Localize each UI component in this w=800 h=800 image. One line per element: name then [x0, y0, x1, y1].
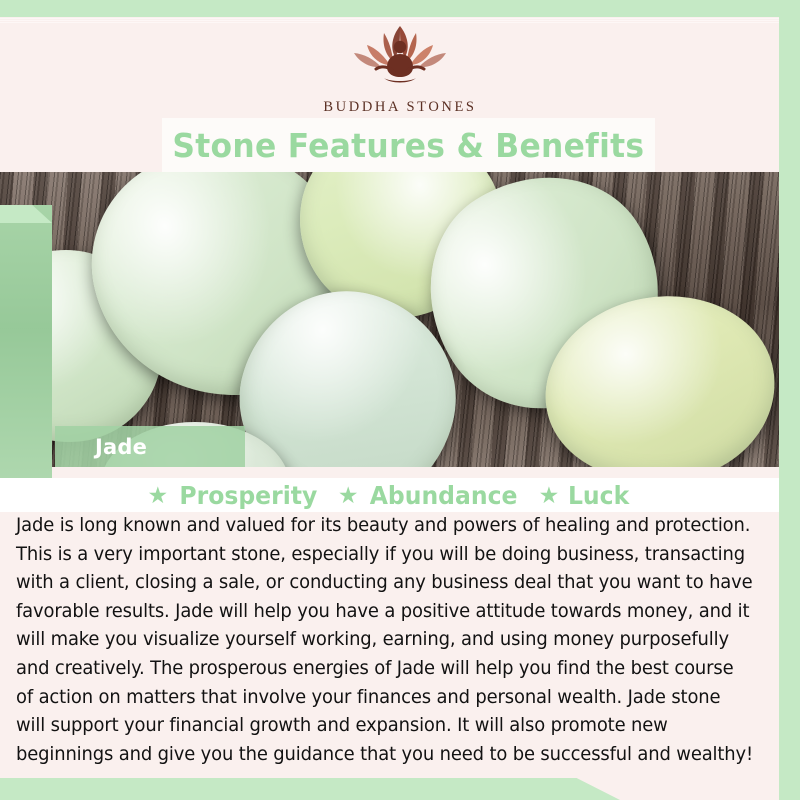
product-info-card: BUDDHA STONES Stone Features & Benefits … — [0, 0, 800, 800]
title-banner: Stone Features & Benefits — [162, 118, 655, 172]
brand-name: BUDDHA STONES — [0, 99, 800, 116]
benefit-label: Abundance — [370, 481, 518, 510]
right-accent-bar — [779, 0, 800, 800]
star-icon: ★ — [539, 484, 560, 507]
benefits-row: ★ Prosperity ★ Abundance ★ Luck — [0, 478, 779, 512]
benefit-item-prosperity: ★ Prosperity — [148, 481, 322, 510]
stone-name-band: Jade — [55, 426, 245, 467]
bottom-accent-bar — [0, 778, 620, 800]
description-text: Jade is long known and valued for its be… — [16, 512, 753, 769]
benefit-label: Luck — [568, 481, 629, 510]
benefit-item-abundance: ★ Abundance — [338, 481, 523, 510]
star-icon: ★ — [338, 484, 359, 507]
brand-logo: BUDDHA STONES — [0, 20, 800, 116]
lotus-meditation-icon — [340, 20, 460, 94]
benefit-item-luck: ★ Luck — [539, 481, 632, 510]
left-accent-bar — [0, 205, 52, 480]
benefit-label: Prosperity — [180, 481, 318, 510]
star-icon: ★ — [148, 484, 169, 507]
top-accent-bar — [0, 0, 800, 17]
stone-photo — [0, 172, 779, 467]
page-title: Stone Features & Benefits — [173, 126, 645, 165]
stone-name: Jade — [95, 435, 147, 459]
